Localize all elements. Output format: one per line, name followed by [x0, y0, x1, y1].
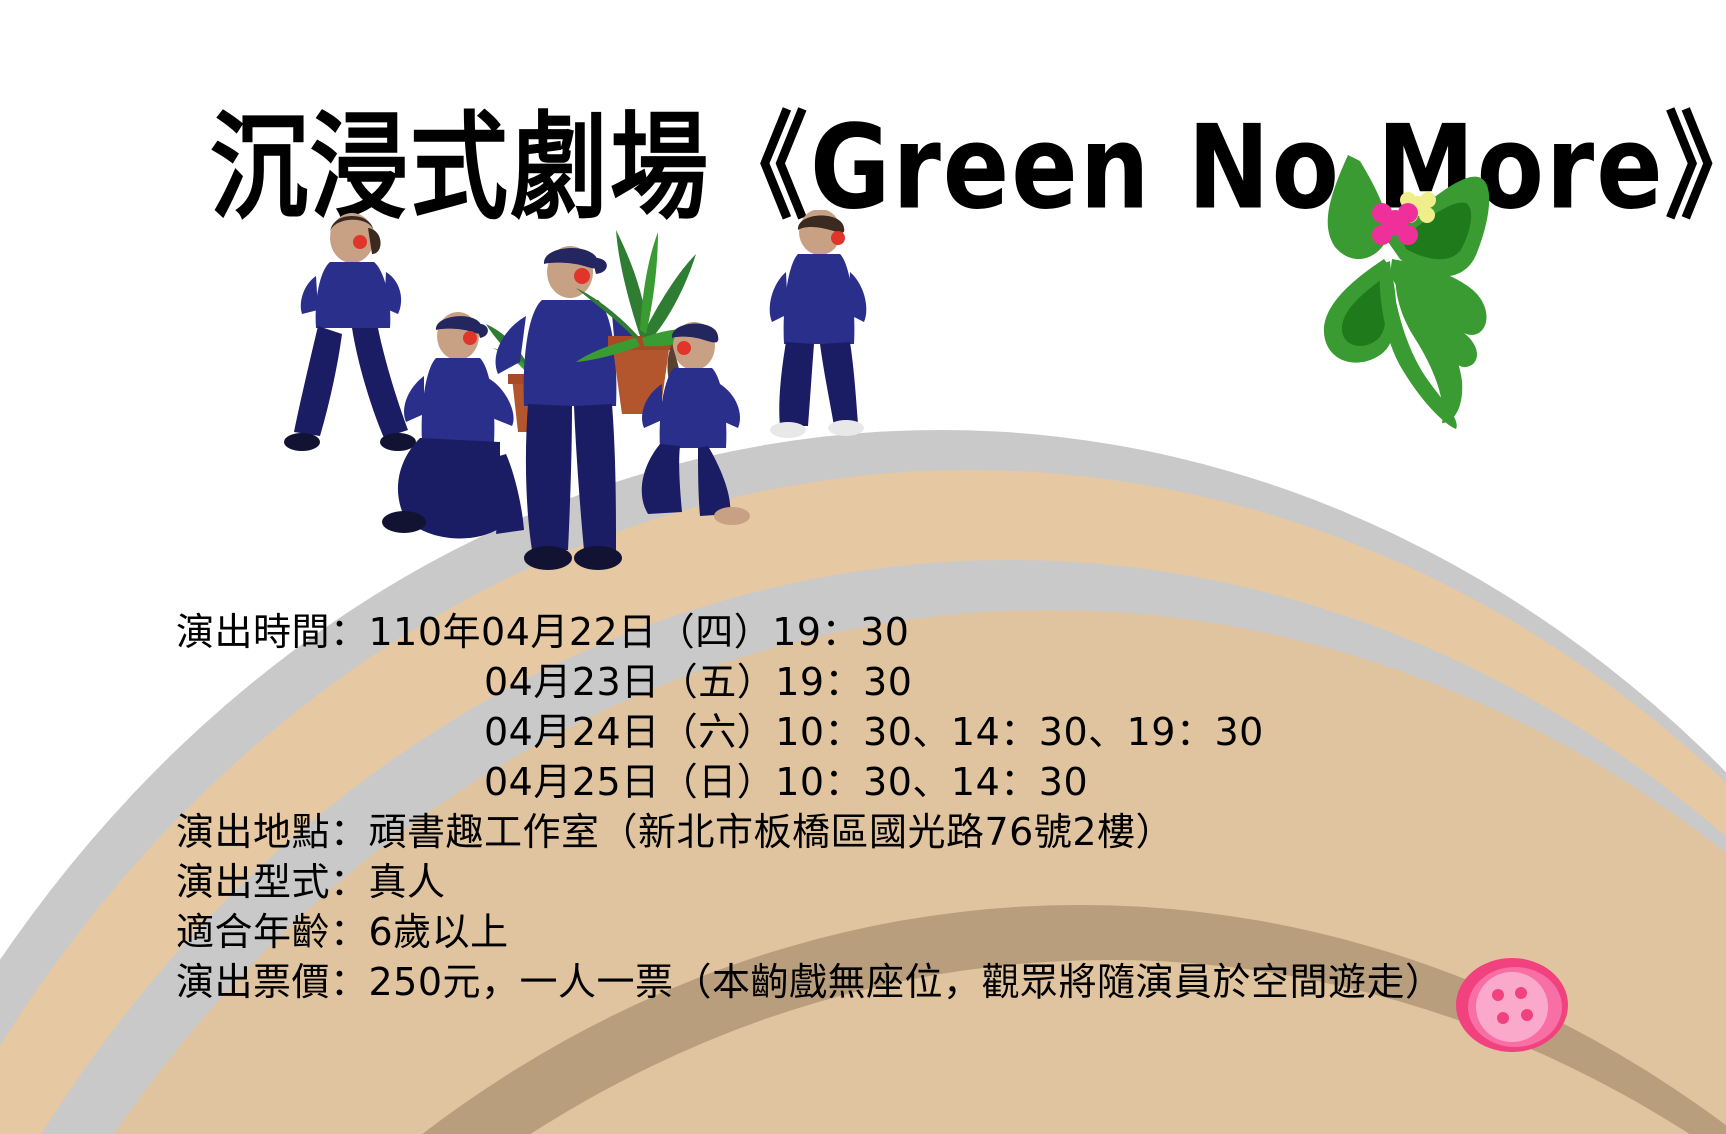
info-line-schedule-2: 04月23日（五）19：30 — [176, 657, 1596, 707]
info-line-price: 演出票價：250元，一人一票（本齣戲無座位，觀眾將隨演員於空間遊走） — [176, 957, 1596, 1007]
green-ribbon-bow — [1290, 155, 1540, 430]
poster-canvas: 沉浸式劇場《Green No More》 — [0, 0, 1726, 1134]
info-line-venue: 演出地點：頑書趣工作室（新北市板橋區國光路76號2樓） — [176, 807, 1596, 857]
info-line-age: 適合年齡：6歲以上 — [176, 907, 1596, 957]
performer-walking-away — [770, 210, 867, 438]
info-line-schedule-3: 04月24日（六）10：30、14：30、19：30 — [176, 707, 1596, 757]
info-line-format: 演出型式：真人 — [176, 857, 1596, 907]
ribbon-svg — [1290, 155, 1540, 430]
info-line-schedule-4: 04月25日（日）10：30、14：30 — [176, 757, 1596, 807]
info-line-schedule-1: 演出時間：110年04月22日（四）19：30 — [176, 607, 1596, 657]
performers-svg — [280, 210, 900, 610]
clown-performers-group — [280, 210, 900, 610]
performance-info-block: 演出時間：110年04月22日（四）19：30 04月23日（五）19：30 0… — [176, 607, 1596, 1007]
performer-standing-left — [284, 213, 416, 451]
